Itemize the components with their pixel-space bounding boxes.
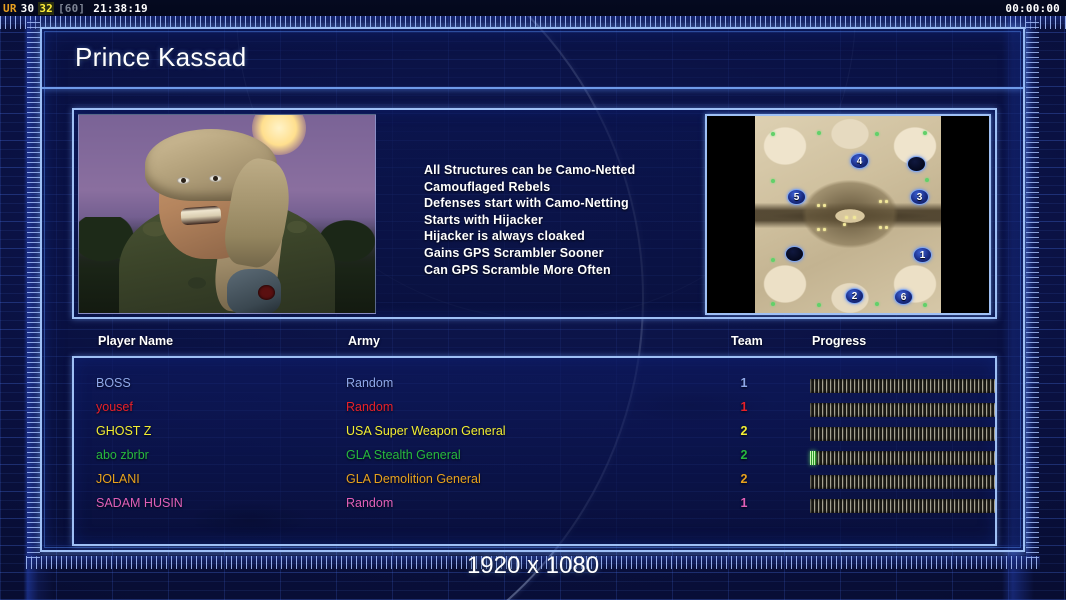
player-progress-bar	[810, 403, 997, 417]
player-progress-bar	[810, 475, 997, 489]
map-letterbox-left	[707, 116, 755, 313]
ability-line: All Structures can be Camo-Netted	[424, 162, 714, 179]
column-header-army: Army	[348, 334, 380, 348]
map-start-position: 1	[913, 247, 932, 263]
map-tech-building-dot	[923, 131, 927, 135]
player-name: GHOST Z	[96, 424, 151, 438]
player-army: GLA Stealth General	[346, 448, 461, 462]
map-preview-image: 453126	[755, 116, 945, 313]
resolution-label: 1920 x 1080	[0, 552, 1066, 580]
hud-fps-average: 30	[21, 2, 35, 15]
column-header-player-name: Player Name	[98, 334, 173, 348]
player-table: BOSSRandom1yousefRandom1GHOST ZUSA Super…	[72, 356, 997, 546]
table-row: JOLANIGLA Demolition General2	[74, 472, 995, 496]
player-team: 1	[736, 376, 752, 390]
map-supply-pile	[817, 228, 820, 231]
player-progress-bar	[810, 451, 997, 465]
portrait-eye-left	[177, 177, 190, 184]
player-team: 2	[736, 448, 752, 462]
map-start-position: 5	[787, 189, 806, 205]
ability-line: Defenses start with Camo-Netting	[424, 195, 714, 212]
map-supply-pile	[823, 228, 826, 231]
map-start-position-empty	[785, 246, 804, 262]
map-tech-building-dot	[771, 132, 775, 136]
map-tech-building-dot	[817, 131, 821, 135]
portrait-mouth	[180, 206, 221, 226]
player-name: abo zbrbr	[96, 448, 149, 462]
map-tech-building-dot	[771, 258, 775, 262]
map-preview-panel: 453126	[705, 114, 991, 315]
map-supply-pile	[843, 223, 846, 226]
page-title: Prince Kassad	[75, 42, 247, 73]
hud-fps-max: [60]	[58, 2, 85, 15]
map-supply-pile	[879, 226, 882, 229]
map-supply-pile	[817, 204, 820, 207]
hud-ur-label: UR	[3, 2, 17, 15]
map-tech-building-dot	[875, 132, 879, 136]
hud-stats: UR 30 32 [60] 21:38:19	[0, 2, 148, 15]
ability-line: Gains GPS Scrambler Sooner	[424, 245, 714, 262]
map-supply-pile	[885, 226, 888, 229]
table-row: GHOST ZUSA Super Weapon General2	[74, 424, 995, 448]
player-team: 2	[736, 472, 752, 486]
ability-line: Camouflaged Rebels	[424, 179, 714, 196]
map-start-position: 2	[845, 288, 864, 304]
portrait-eye-right	[209, 175, 222, 182]
map-tech-building-dot	[925, 178, 929, 182]
map-letterbox-right	[941, 116, 989, 313]
map-start-position-empty	[907, 156, 926, 172]
table-row: BOSSRandom1	[74, 376, 995, 400]
map-tech-building-dot	[875, 302, 879, 306]
map-start-position: 6	[894, 289, 913, 305]
title-bar: Prince Kassad	[42, 29, 1023, 89]
hud-clock: 21:38:19	[93, 2, 148, 15]
column-header-progress: Progress	[812, 334, 866, 348]
table-row: abo zbrbrGLA Stealth General2	[74, 448, 995, 472]
top-hud-bar: UR 30 32 [60] 21:38:19 00:00:00	[0, 0, 1066, 16]
player-army: Random	[346, 400, 393, 414]
player-team: 2	[736, 424, 752, 438]
ability-line: Can GPS Scramble More Often	[424, 262, 714, 279]
map-tech-building-dot	[771, 179, 775, 183]
column-header-team: Team	[731, 334, 763, 348]
map-start-position: 4	[850, 153, 869, 169]
player-progress-bar	[810, 499, 997, 513]
ability-line: Starts with Hijacker	[424, 212, 714, 229]
hud-fps-current: 32	[38, 2, 54, 15]
player-name: SADAM HUSIN	[96, 496, 183, 510]
ability-list: All Structures can be Camo-NettedCamoufl…	[424, 162, 714, 278]
general-portrait	[78, 114, 376, 314]
player-name: yousef	[96, 400, 133, 414]
hud-game-timer: 00:00:00	[1005, 2, 1066, 15]
map-supply-pile	[853, 216, 856, 219]
general-info-panel: All Structures can be Camo-NettedCamoufl…	[72, 108, 997, 319]
player-team: 1	[736, 400, 752, 414]
portrait-canteen	[227, 269, 281, 314]
ability-line: Hijacker is always cloaked	[424, 228, 714, 245]
player-table-header: Player Name Army Team Progress	[76, 334, 991, 356]
player-army: Random	[346, 496, 393, 510]
player-progress-fill	[810, 451, 816, 465]
map-supply-pile	[885, 200, 888, 203]
map-supply-pile	[879, 200, 882, 203]
table-row: SADAM HUSINRandom1	[74, 496, 995, 520]
player-army: USA Super Weapon General	[346, 424, 506, 438]
map-supply-pile	[823, 204, 826, 207]
map-supply-pile	[845, 216, 848, 219]
player-team: 1	[736, 496, 752, 510]
player-name: JOLANI	[96, 472, 140, 486]
table-row: yousefRandom1	[74, 400, 995, 424]
player-progress-bar	[810, 379, 997, 393]
map-start-position: 3	[910, 189, 929, 205]
map-tech-building-dot	[817, 303, 821, 307]
player-name: BOSS	[96, 376, 131, 390]
map-tech-building-dot	[923, 303, 927, 307]
player-army: GLA Demolition General	[346, 472, 481, 486]
loading-screen-frame: Prince Kassad All Structures can be Camo…	[40, 27, 1025, 552]
player-progress-bar	[810, 427, 997, 441]
map-tech-building-dot	[771, 302, 775, 306]
player-army: Random	[346, 376, 393, 390]
